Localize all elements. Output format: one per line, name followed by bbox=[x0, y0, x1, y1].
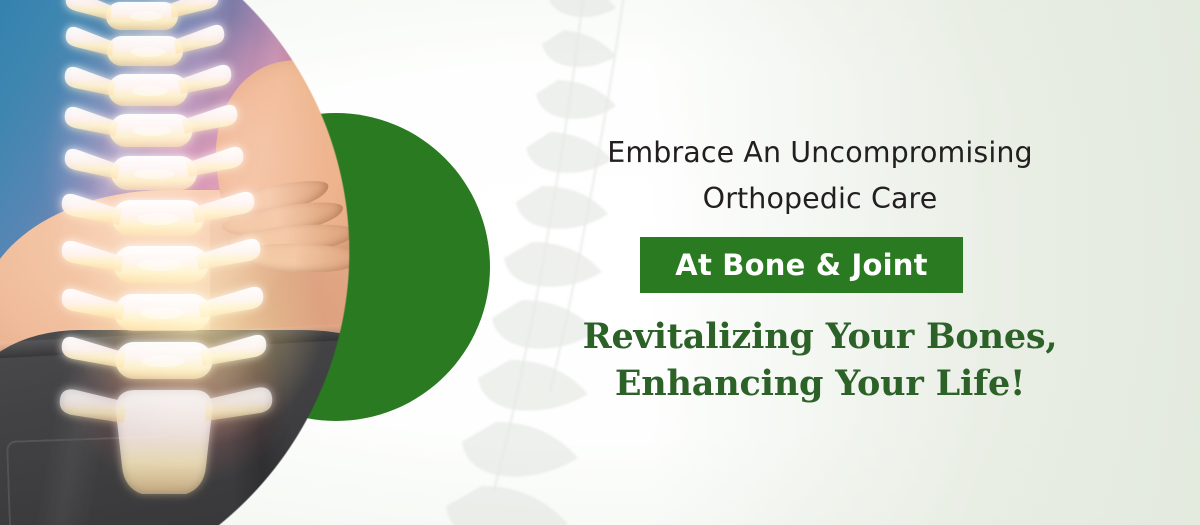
banner-content: Embrace An Uncompromising Orthopedic Car… bbox=[520, 0, 1120, 525]
headline-line-2: Orthopedic Care bbox=[520, 176, 1120, 222]
headline-line-1: Embrace An Uncompromising bbox=[607, 136, 1032, 169]
brand-badge-label: At Bone & Joint bbox=[675, 248, 927, 282]
orthopedic-care-banner: Embrace An Uncompromising Orthopedic Car… bbox=[0, 0, 1200, 525]
headline: Embrace An Uncompromising Orthopedic Car… bbox=[520, 130, 1120, 222]
brand-badge[interactable]: At Bone & Joint bbox=[640, 237, 963, 293]
tagline: Revitalizing Your Bones, Enhancing Your … bbox=[520, 313, 1120, 407]
tagline-line-1: Revitalizing Your Bones, bbox=[583, 316, 1058, 357]
patient-photo bbox=[0, 0, 462, 525]
tagline-line-2: Enhancing Your Life! bbox=[520, 360, 1120, 407]
pain-glow-lower bbox=[40, 300, 370, 525]
